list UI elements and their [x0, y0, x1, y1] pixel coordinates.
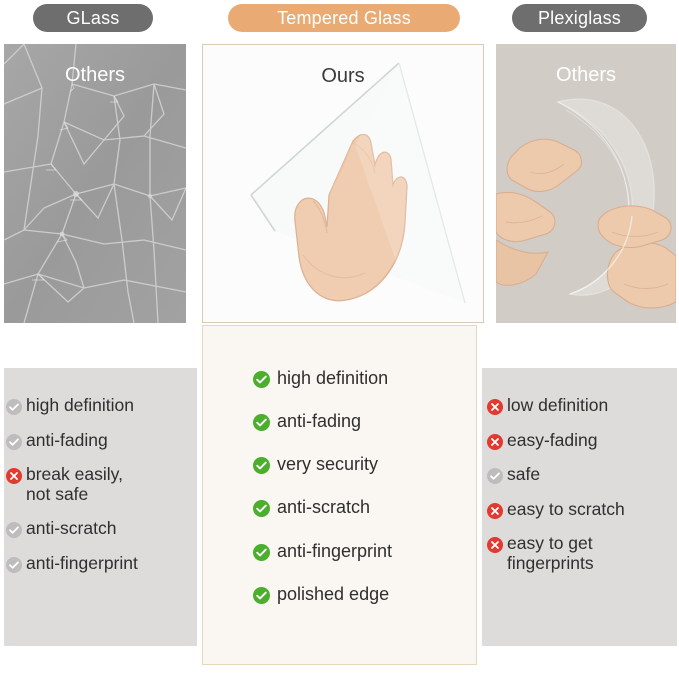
list-item: safe: [487, 465, 677, 485]
list-item: very security: [253, 454, 476, 474]
list-item-label: anti-fingerprint: [277, 541, 392, 561]
list-item-label: anti-fading: [277, 411, 361, 431]
list-item-label: easy-fading: [507, 431, 597, 451]
left-panel-label: Others: [4, 64, 186, 87]
check-circle-icon: [253, 371, 270, 388]
list-item: high definition: [253, 368, 476, 388]
list-item: anti-fingerprint: [253, 541, 476, 561]
list-item-label: high definition: [277, 368, 388, 388]
check-circle-icon: [253, 457, 270, 474]
cross-circle-icon: [6, 468, 22, 484]
list-item: anti-scratch: [6, 519, 197, 539]
header-pill-plexiglass-label: Plexiglass: [538, 8, 621, 29]
cracked-glass-image: Others: [4, 44, 186, 323]
list-item: polished edge: [253, 584, 476, 604]
header-pill-plexiglass: Plexiglass: [512, 4, 647, 32]
list-item: anti-fingerprint: [6, 554, 197, 574]
tempered-glass-image: Ours: [202, 44, 484, 323]
glass-feature-box: high definition anti-fading break easily…: [4, 368, 197, 646]
list-item-label: easy to get fingerprints: [507, 534, 594, 573]
list-item-label: easy to scratch: [507, 500, 625, 520]
list-item: anti-scratch: [253, 497, 476, 517]
list-item: anti-fading: [6, 431, 197, 451]
list-item-label: safe: [507, 465, 540, 485]
list-item: high definition: [6, 396, 197, 416]
header-pill-glass: GLass: [33, 4, 153, 32]
check-circle-icon: [487, 468, 503, 484]
tempered-glass-feature-box: high definition anti-fading very securit…: [202, 325, 477, 665]
plexiglass-image: Others: [496, 44, 676, 323]
list-item-label: anti-scratch: [277, 497, 370, 517]
glass-feature-list: high definition anti-fading break easily…: [4, 368, 197, 574]
check-circle-icon: [6, 557, 22, 573]
plexiglass-feature-box: low definition easy-fading safe easy to …: [482, 368, 677, 646]
header-pill-tempered-glass-label: Tempered Glass: [277, 8, 411, 29]
check-circle-icon: [6, 522, 22, 538]
check-circle-icon: [6, 434, 22, 450]
check-circle-icon: [253, 587, 270, 604]
list-item: easy to scratch: [487, 500, 677, 520]
header-pill-tempered-glass: Tempered Glass: [228, 4, 460, 32]
list-item: anti-fading: [253, 411, 476, 431]
cross-circle-icon: [487, 537, 503, 553]
list-item-label: very security: [277, 454, 378, 474]
right-panel-label: Others: [496, 64, 676, 87]
list-item-label: break easily, not safe: [26, 465, 123, 504]
list-item-label: anti-fading: [26, 431, 108, 451]
cross-circle-icon: [487, 399, 503, 415]
list-item: low definition: [487, 396, 677, 416]
tempered-glass-feature-list: high definition anti-fading very securit…: [203, 326, 476, 604]
list-item-label: anti-fingerprint: [26, 554, 138, 574]
check-circle-icon: [253, 544, 270, 561]
check-circle-icon: [253, 500, 270, 517]
middle-panel-label: Ours: [203, 65, 483, 88]
plexiglass-feature-list: low definition easy-fading safe easy to …: [482, 368, 677, 574]
cross-circle-icon: [487, 503, 503, 519]
list-item-label: low definition: [507, 396, 608, 416]
list-item: break easily, not safe: [6, 465, 197, 504]
list-item-label: anti-scratch: [26, 519, 116, 539]
header-pill-glass-label: GLass: [66, 8, 119, 29]
list-item: easy-fading: [487, 431, 677, 451]
list-item-label: high definition: [26, 396, 134, 416]
cross-circle-icon: [487, 434, 503, 450]
list-item-label: polished edge: [277, 584, 389, 604]
list-item: easy to get fingerprints: [487, 534, 677, 573]
check-circle-icon: [253, 414, 270, 431]
check-circle-icon: [6, 399, 22, 415]
